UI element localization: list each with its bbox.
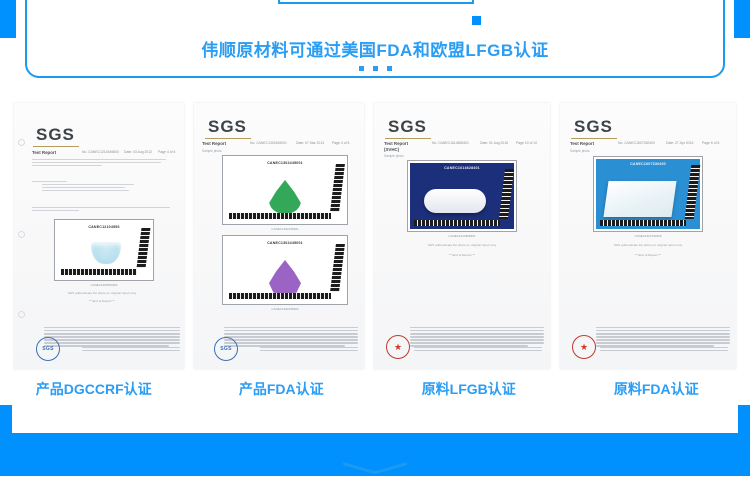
title-corner-dot bbox=[472, 16, 481, 25]
photo-caption: CANEC1204564301 bbox=[54, 283, 154, 287]
report-title: Test Report bbox=[570, 141, 594, 146]
ruler-horizontal-icon bbox=[61, 269, 137, 275]
ruler-vertical-icon bbox=[499, 169, 514, 219]
photo-code: CANEC1614828401 bbox=[410, 166, 514, 170]
header-subtitle: 伟顺原材料可通过美国FDA和欧盟LFGB认证 bbox=[0, 36, 750, 61]
sample-photo-note: Sample photo bbox=[384, 154, 404, 158]
sample-photo: CANEC1614828401 bbox=[407, 160, 517, 232]
ruler-vertical-icon bbox=[330, 164, 345, 212]
report-page: Page 4 of 5 bbox=[332, 141, 349, 145]
ruler-horizontal-icon bbox=[600, 220, 686, 226]
report-title: Test Report bbox=[32, 150, 56, 155]
photo-caption: CANEC1302445002 bbox=[222, 307, 348, 311]
seal-label: SGS bbox=[220, 346, 231, 352]
sample-photo-note: Sample photo bbox=[202, 149, 222, 153]
certificate-footer: SGS bbox=[200, 325, 358, 365]
certificate-gallery: SGS Test Report No. CANEC1210445600 Date… bbox=[0, 103, 750, 371]
certificate-card-lfgb-material[interactable]: SGS Test Report (SVHC) No. CANEC16148284… bbox=[374, 103, 550, 369]
page-root: 权威资质 伟顺原材料可通过美国FDA和欧盟LFGB认证 SGS Test Rep… bbox=[0, 0, 750, 479]
report-number: No. CANEC1210445600 bbox=[82, 150, 119, 154]
photo-caption: CANEC1614828401 bbox=[407, 234, 517, 238]
page-title-box: 权威资质 bbox=[278, 0, 474, 4]
sgs-logo: SGS bbox=[388, 117, 427, 137]
dot-2 bbox=[373, 66, 378, 71]
end-of-report-note: ** End of Report ** bbox=[388, 253, 536, 257]
report-table-block bbox=[32, 159, 166, 168]
bottom-white-strip bbox=[0, 405, 750, 433]
certificate-card-dgccrf[interactable]: SGS Test Report No. CANEC1210445600 Date… bbox=[14, 103, 184, 369]
report-page: Page 4 of 4 bbox=[158, 150, 175, 154]
sample-photo-note: Sample photo bbox=[570, 149, 590, 153]
report-title: Test Report bbox=[384, 141, 408, 146]
sample-photo: CANEC1302445001 bbox=[222, 155, 348, 225]
report-page: Page 6 of 6 bbox=[702, 141, 719, 145]
photo-caption: CANEC1607330400 bbox=[593, 234, 703, 238]
report-number: No. CANEC1607330400 bbox=[618, 141, 655, 145]
report-remark-block bbox=[32, 207, 170, 213]
ruler-vertical-icon bbox=[685, 165, 701, 219]
chevron-down-icon[interactable] bbox=[343, 462, 407, 479]
report-title: Test Report bbox=[202, 141, 226, 146]
report-page: Page 10 of 10 bbox=[516, 141, 537, 145]
left-accent-bar bbox=[0, 0, 16, 38]
sample-object-purple-drop bbox=[269, 260, 301, 294]
sgs-logo: SGS bbox=[574, 117, 613, 137]
bottom-right-accent bbox=[738, 405, 750, 433]
sample-object-white-oval bbox=[424, 189, 486, 213]
photo-code: CANEC1302445001 bbox=[225, 161, 345, 165]
certificate-footer: SGS bbox=[20, 325, 178, 365]
sgs-seal-stamp: SGS bbox=[214, 337, 238, 361]
sgs-seal-stamp: SGS bbox=[36, 337, 60, 361]
photo-auth-note: SGS authenticate the photo on original r… bbox=[32, 291, 172, 295]
caption-lfgb-material: 原料LFGB认证 bbox=[375, 375, 563, 403]
star-icon: ★ bbox=[394, 343, 402, 352]
ruler-vertical-icon bbox=[137, 228, 151, 268]
photo-code: CANEC1302445001 bbox=[225, 241, 345, 245]
certificate-footer: ★ bbox=[380, 325, 544, 365]
report-date: Date: 01 Aug 2016 bbox=[480, 141, 508, 145]
bottom-left-accent bbox=[0, 405, 12, 433]
red-star-seal-stamp: ★ bbox=[572, 335, 596, 359]
punch-hole-icon bbox=[18, 139, 25, 146]
sample-object-white-sheet bbox=[603, 181, 676, 217]
photo-auth-note: SGS authenticate the photo on original r… bbox=[388, 243, 536, 247]
ruler-horizontal-icon bbox=[229, 293, 331, 299]
report-number: No. CANEC1302445001 bbox=[250, 141, 287, 145]
photo-code: CANEC12104556 bbox=[57, 225, 151, 229]
certificate-card-fda-material[interactable]: SGS Test Report No. CANEC1607330400 Date… bbox=[560, 103, 736, 369]
page-title: 权威资质 bbox=[332, 0, 420, 4]
sample-photo: CANEC1607330400 bbox=[593, 156, 703, 232]
right-accent-bar bbox=[734, 0, 750, 38]
sample-photo: CANEC1302445001 bbox=[222, 235, 348, 305]
dot-3 bbox=[387, 66, 392, 71]
photo-code: CANEC1607330400 bbox=[596, 162, 700, 166]
photo-auth-note: SGS authenticate the photo on original r… bbox=[574, 243, 722, 247]
sample-object-green-drop bbox=[269, 180, 301, 214]
report-date: Date: 03 Aug 2012 bbox=[124, 150, 152, 154]
ruler-horizontal-icon bbox=[229, 213, 331, 219]
certificate-footer: ★ bbox=[566, 325, 730, 365]
end-of-report-note: ** End of Report ** bbox=[574, 253, 722, 257]
punch-hole-icon bbox=[18, 311, 25, 318]
punch-hole-icon bbox=[18, 231, 25, 238]
seal-label: SGS bbox=[42, 346, 53, 352]
sample-photo: CANEC12104556 bbox=[54, 219, 154, 281]
ruler-horizontal-icon bbox=[414, 220, 500, 226]
caption-fda-product: 产品FDA认证 bbox=[188, 375, 376, 403]
report-date: Date: 27 Apr 2016 bbox=[666, 141, 693, 145]
certificate-captions: 产品DGCCRF认证 产品FDA认证 原料LFGB认证 原料FDA认证 bbox=[0, 375, 750, 403]
report-number: No. CANEC1614828401 bbox=[432, 141, 469, 145]
caption-fda-material: 原料FDA认证 bbox=[563, 375, 750, 403]
decorative-dots bbox=[0, 64, 750, 72]
photo-caption: CANEC1302445001 bbox=[222, 227, 348, 231]
report-date: Date: 07 Mar 2013 bbox=[296, 141, 324, 145]
sgs-logo: SGS bbox=[208, 117, 247, 137]
sgs-logo: SGS bbox=[36, 125, 75, 145]
sample-object-bowl bbox=[91, 242, 121, 264]
star-icon: ★ bbox=[580, 343, 588, 352]
dot-1 bbox=[359, 66, 364, 71]
caption-dgccrf: 产品DGCCRF认证 bbox=[0, 375, 188, 403]
end-of-report-note: ** End of Report ** bbox=[32, 299, 172, 303]
ruler-vertical-icon bbox=[330, 244, 345, 292]
certificate-card-fda-product[interactable]: SGS Test Report No. CANEC1302445001 Date… bbox=[194, 103, 364, 369]
header-section: 权威资质 伟顺原材料可通过美国FDA和欧盟LFGB认证 bbox=[0, 0, 750, 92]
report-notes-block bbox=[32, 181, 150, 193]
report-subtitle: (SVHC) bbox=[384, 147, 399, 152]
red-star-seal-stamp: ★ bbox=[386, 335, 410, 359]
